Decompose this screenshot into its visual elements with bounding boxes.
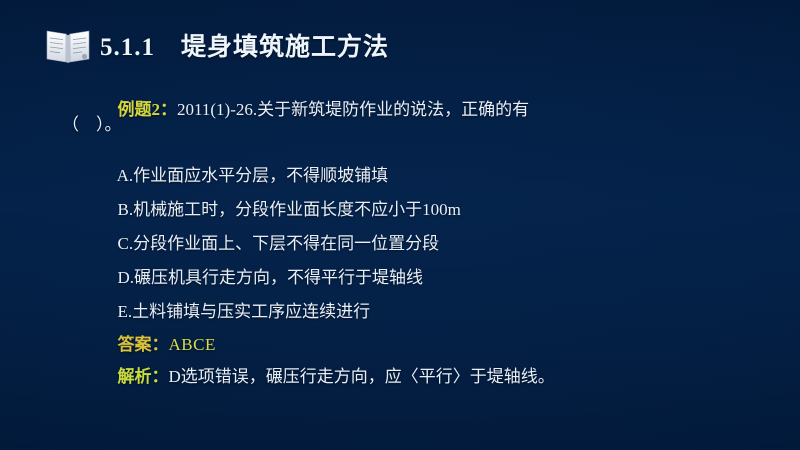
explanation-label: 解析： bbox=[118, 367, 169, 386]
open-book-icon bbox=[44, 25, 92, 65]
option-d-text: 碾压机具行走方向，不得平行于堤轴线 bbox=[134, 268, 423, 287]
option-b-text: 机械施工时，分段作业面长度不应小于100m bbox=[133, 200, 461, 219]
explanation-text: D选项错误，碾压行走方向，应〈平行〉于堤轴线。 bbox=[169, 367, 555, 386]
question-line-2: （ ）。 bbox=[62, 116, 122, 133]
option-c-key: C. bbox=[118, 234, 134, 253]
page-title: 5.1.1 堤身填筑施工方法 bbox=[100, 27, 389, 63]
slide-canvas: 5.1.1 堤身填筑施工方法 例题2：2011(1)-26.关于新筑堤防作业的说… bbox=[0, 0, 800, 450]
option-a-text: 作业面应水平分层，不得顺坡铺填 bbox=[133, 166, 388, 185]
question-label: 例题2： bbox=[118, 100, 178, 119]
option-a-key: A. bbox=[117, 166, 134, 185]
question-line-1: 例题2：2011(1)-26.关于新筑堤防作业的说法，正确的有 bbox=[92, 84, 529, 135]
question-text: 2011(1)-26.关于新筑堤防作业的说法，正确的有 bbox=[177, 100, 529, 119]
option-b-key: B. bbox=[118, 200, 134, 219]
slide-title-row: 5.1.1 堤身填筑施工方法 bbox=[44, 22, 389, 68]
explanation-line: 解析：D选项错误，碾压行走方向，应〈平行〉于堤轴线。 bbox=[92, 351, 555, 402]
option-d-key: D. bbox=[118, 268, 135, 287]
option-c-text: 分段作业面上、下层不得在同一位置分段 bbox=[133, 234, 439, 253]
